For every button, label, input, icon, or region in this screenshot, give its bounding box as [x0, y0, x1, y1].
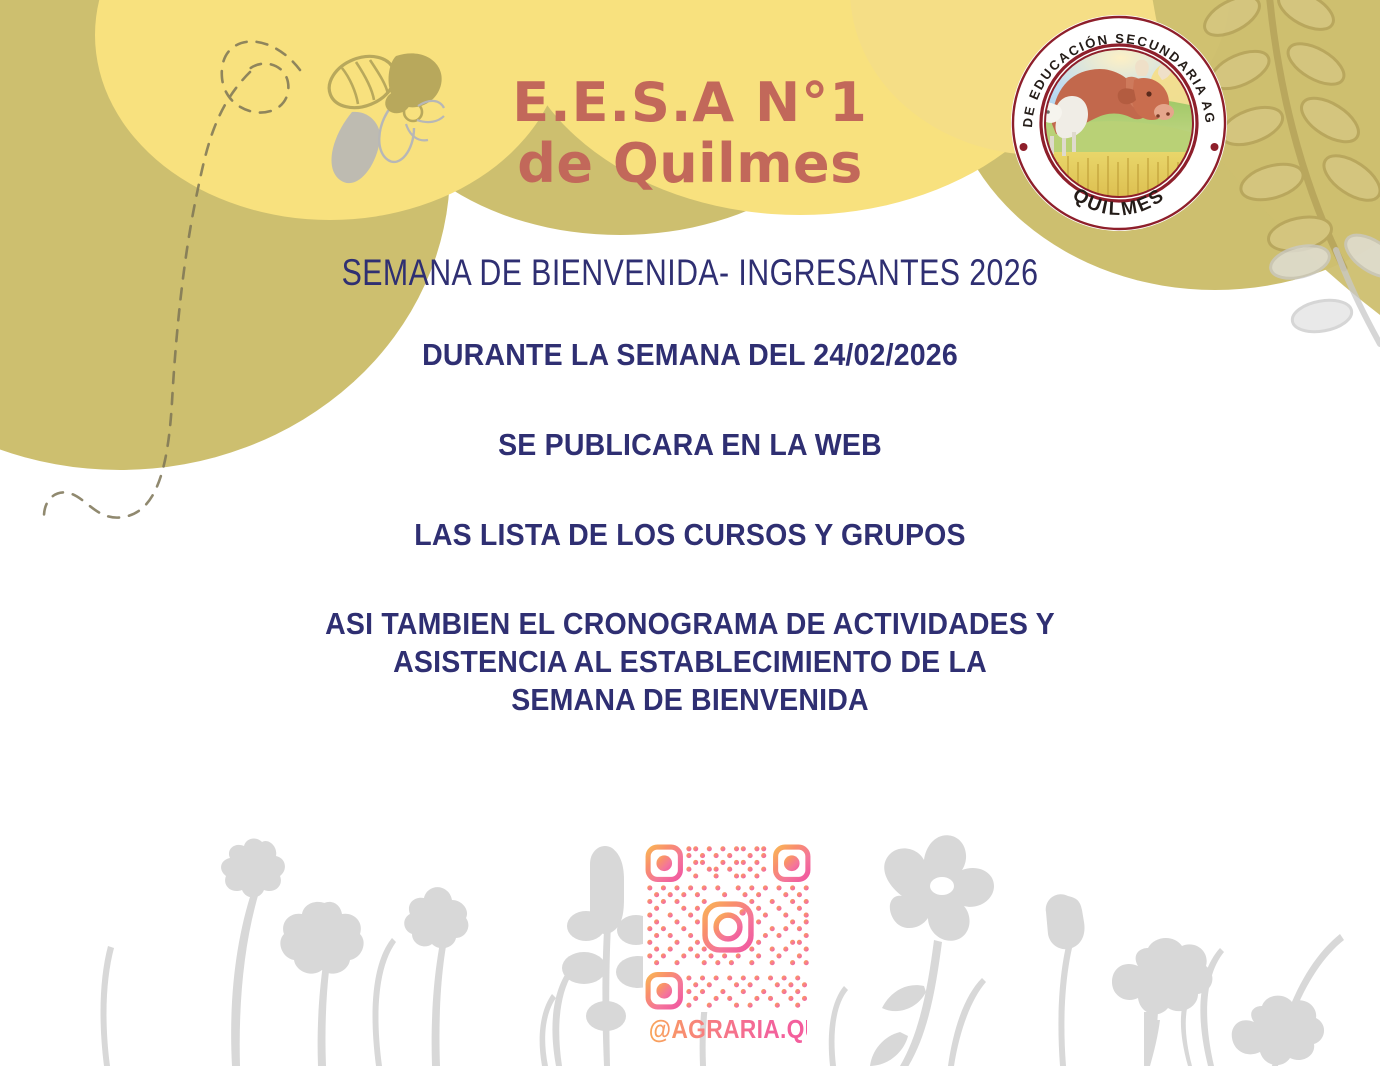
poster-body: DURANTE LA SEMANA DEL 24/02/2026 SE PUBL…	[0, 336, 1380, 719]
body-line: ASISTENCIA AL ESTABLECIMIENTO DE LA	[55, 643, 1325, 681]
body-line: DURANTE LA SEMANA DEL 24/02/2026	[55, 336, 1325, 374]
school-seal-logo: ESCUELA DE EDUCACIÓN SECUNDARIA AGRARIA …	[1008, 12, 1230, 234]
body-paragraph-2: SE PUBLICARA EN LA WEB	[0, 426, 1380, 464]
body-line: ASI TAMBIEN EL CRONOGRAMA DE ACTIVIDADES…	[55, 605, 1325, 643]
body-paragraph-4: ASI TAMBIEN EL CRONOGRAMA DE ACTIVIDADES…	[0, 605, 1380, 718]
poster-canvas: ESCUELA DE EDUCACIÓN SECUNDARIA AGRARIA …	[0, 0, 1380, 1066]
body-paragraph-1: DURANTE LA SEMANA DEL 24/02/2026	[0, 336, 1380, 374]
instagram-icon	[704, 903, 752, 951]
instagram-handle[interactable]: @AGRARIA.QUILMES	[649, 1014, 807, 1045]
body-paragraph-3: LAS LISTA DE LOS CURSOS Y GRUPOS	[0, 516, 1380, 554]
body-line: SEMANA DE BIENVENIDA	[55, 681, 1325, 719]
body-line: SE PUBLICARA EN LA WEB	[55, 426, 1325, 464]
instagram-qr-block[interactable]: @AGRARIA.QUILMES	[638, 842, 818, 1045]
body-line: LAS LISTA DE LOS CURSOS Y GRUPOS	[55, 516, 1325, 554]
qr-code-image[interactable]	[643, 842, 813, 1012]
poster-subtitle: SEMANA DE BIENVENIDA- INGRESANTES 2026	[124, 253, 1256, 294]
